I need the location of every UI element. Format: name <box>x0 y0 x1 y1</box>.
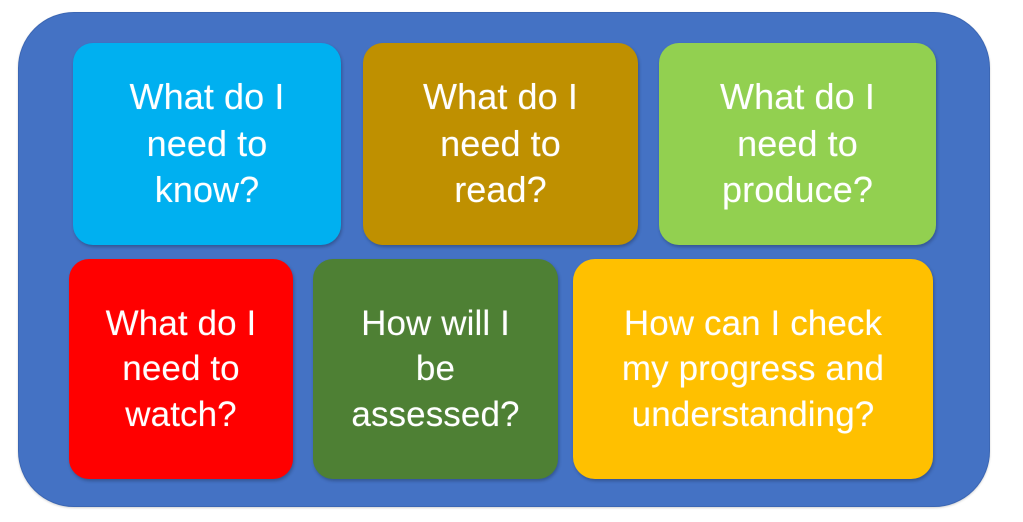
question-card-produce-label: What do I need to produce? <box>665 74 930 214</box>
question-card-produce[interactable]: What do I need to produce? <box>659 43 936 245</box>
question-card-check-label: How can I check my progress and understa… <box>579 301 927 438</box>
question-card-watch[interactable]: What do I need to watch? <box>69 259 293 479</box>
question-card-watch-label: What do I need to watch? <box>75 301 287 438</box>
diagram-panel: What do I need to know? What do I need t… <box>18 12 990 507</box>
question-card-check[interactable]: How can I check my progress and understa… <box>573 259 933 479</box>
question-card-read[interactable]: What do I need to read? <box>363 43 638 245</box>
question-card-assessed-label: How will I be assessed? <box>319 301 552 438</box>
question-card-read-label: What do I need to read? <box>369 74 632 214</box>
question-card-know-label: What do I need to know? <box>79 74 335 214</box>
diagram-canvas: What do I need to know? What do I need t… <box>0 0 1023 522</box>
question-card-know[interactable]: What do I need to know? <box>73 43 341 245</box>
question-card-assessed[interactable]: How will I be assessed? <box>313 259 558 479</box>
